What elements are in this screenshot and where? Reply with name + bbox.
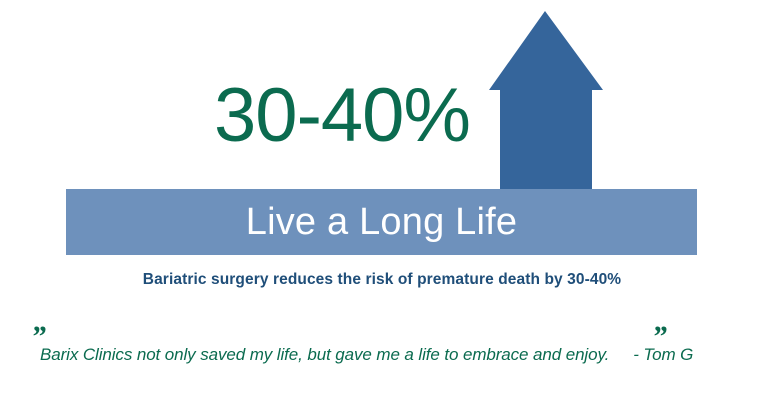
subheadline-text: Bariatric surgery reduces the risk of pr…: [0, 271, 764, 289]
headline-banner: Live a Long Life: [66, 189, 697, 255]
up-arrow-icon: [486, 8, 606, 190]
testimonial-line: Barix Clinics not only saved my life, bu…: [40, 345, 740, 365]
statistic-value: 30-40%: [0, 78, 470, 154]
headline-text: Live a Long Life: [246, 203, 518, 241]
testimonial-block: ” ” Barix Clinics not only saved my life…: [0, 320, 764, 380]
testimonial-attribution: - Tom G: [633, 345, 693, 364]
testimonial-text: Barix Clinics not only saved my life, bu…: [40, 345, 609, 364]
slide-canvas: 30-40% Live a Long Life Bariatric surger…: [0, 0, 764, 400]
